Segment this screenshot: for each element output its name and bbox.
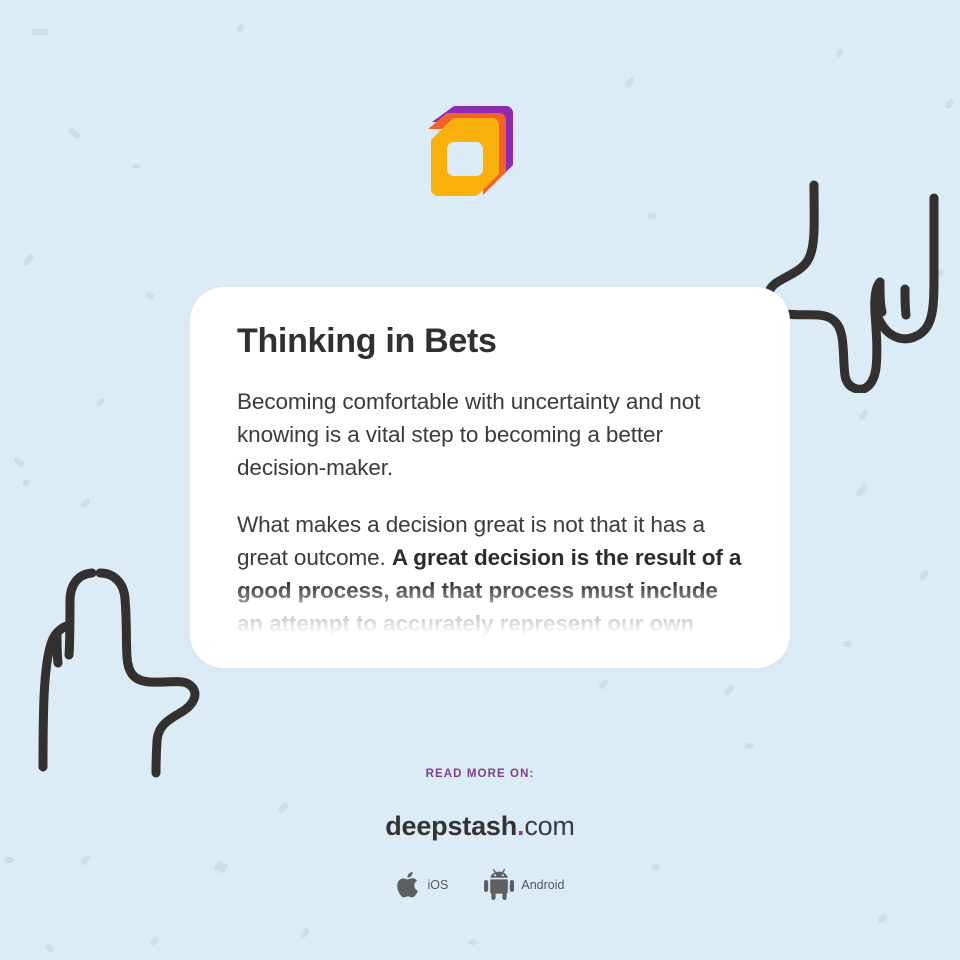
background-fleck <box>877 912 889 924</box>
page-title: Thinking in Bets <box>237 321 742 361</box>
background-fleck <box>32 29 48 35</box>
pointing-hand-outline-icon <box>28 565 208 780</box>
idea-card-content: Thinking in Bets Becoming comfortable wi… <box>190 287 790 640</box>
background-fleck <box>145 291 156 301</box>
ios-store-label: iOS <box>428 878 449 892</box>
ios-store-badge[interactable]: iOS <box>396 870 449 900</box>
background-fleck <box>934 268 944 279</box>
background-fleck <box>855 483 869 498</box>
background-fleck <box>22 253 35 267</box>
android-store-badge[interactable]: Android <box>484 869 564 901</box>
paragraph-2: What makes a decision great is not that … <box>237 508 742 640</box>
background-fleck <box>858 409 870 421</box>
background-fleck <box>13 456 26 468</box>
background-fleck <box>944 98 956 110</box>
background-fleck <box>300 927 311 939</box>
background-fleck <box>598 678 610 690</box>
background-fleck <box>647 213 656 219</box>
idea-card: Thinking in Bets Becoming comfortable wi… <box>190 287 790 668</box>
brand-tld: com <box>524 811 574 841</box>
app-store-badges: iOS And <box>0 869 960 901</box>
background-fleck <box>22 480 30 486</box>
background-fleck <box>843 641 852 647</box>
background-fleck <box>132 163 140 169</box>
idea-body: Becoming comfortable with uncertainty an… <box>237 385 742 640</box>
background-fleck <box>624 75 636 88</box>
brand-name: deepstash <box>385 811 517 841</box>
background-fleck <box>44 943 55 953</box>
background-fleck <box>235 23 245 34</box>
background-fleck <box>95 397 105 408</box>
background-fleck <box>468 939 477 945</box>
brand-wordmark[interactable]: deepstash.com <box>0 811 960 842</box>
background-fleck <box>918 568 930 581</box>
android-store-label: Android <box>521 878 564 892</box>
body-text: Becoming comfortable with uncertainty an… <box>237 389 700 480</box>
android-icon <box>484 869 514 901</box>
background-fleck <box>834 48 844 59</box>
deepstash-logo <box>428 103 516 197</box>
background-fleck <box>68 126 82 139</box>
paragraph-1: Becoming comfortable with uncertainty an… <box>237 385 742 484</box>
poster-canvas: Thinking in Bets Becoming comfortable wi… <box>0 0 960 960</box>
apple-icon <box>396 870 421 900</box>
background-fleck <box>723 683 735 696</box>
background-fleck <box>149 936 159 947</box>
background-fleck <box>745 743 754 749</box>
read-more-label: READ MORE ON: <box>0 768 960 780</box>
footer: READ MORE ON: deepstash.com iOS <box>0 768 960 901</box>
background-fleck <box>80 497 92 509</box>
